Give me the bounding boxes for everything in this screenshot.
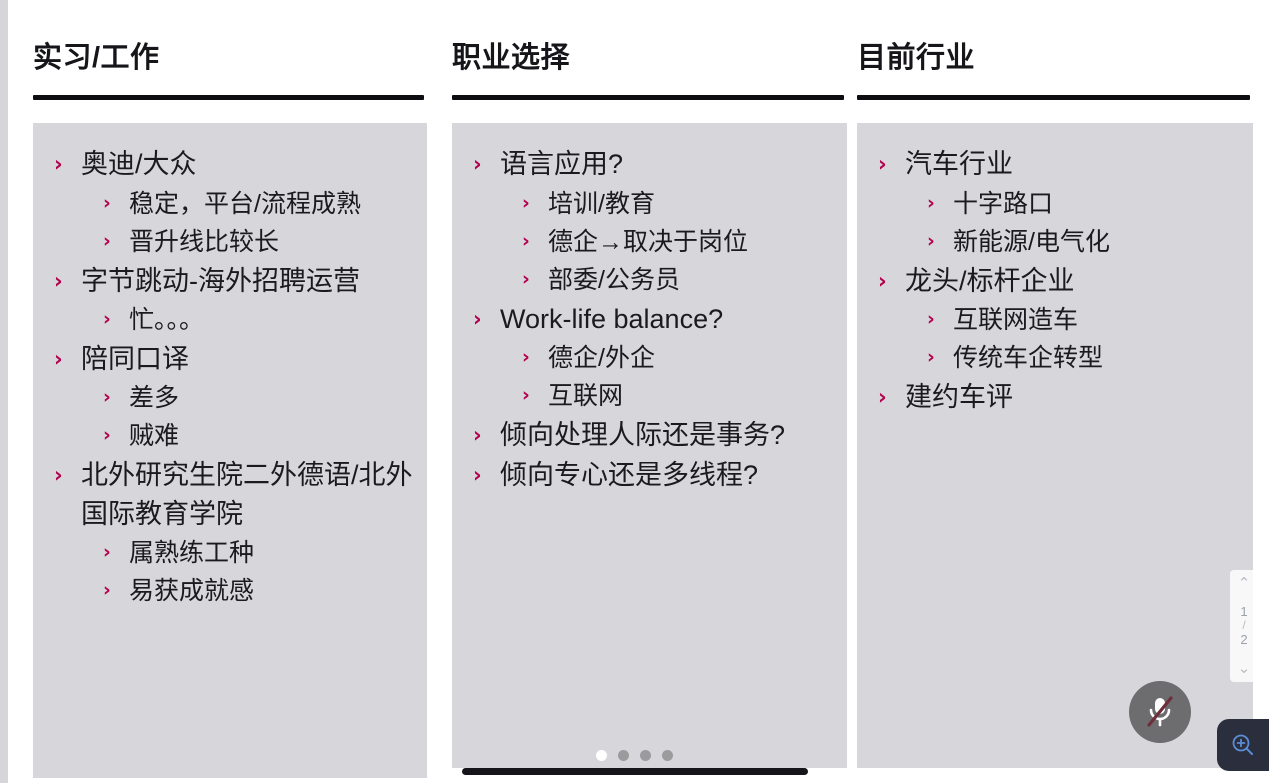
list-item-label: 培训/教育	[548, 186, 839, 222]
chevron-right-icon: ›	[103, 306, 111, 333]
content-panel-1: ›奥迪/大众 ›稳定，平台/流程成熟 ›晋升线比较长 ›字节跳动-海外招聘运营 …	[33, 123, 427, 778]
chevron-right-icon: ›	[878, 267, 887, 297]
bullet-list-2: ›语言应用? ›培训/教育 ›德企→取决于岗位 ›部委/公务员 ›Work-li…	[452, 145, 847, 494]
adjacent-slide-sliver	[0, 0, 8, 783]
list-item-label: 稳定，平台/流程成熟	[129, 186, 419, 222]
list-item[interactable]: ›奥迪/大众	[33, 145, 427, 183]
chevron-right-icon: ›	[473, 150, 482, 180]
current-page-number: 1	[1240, 605, 1247, 620]
list-item-label: 晋升线比较长	[129, 224, 419, 260]
chevron-right-icon: ›	[927, 344, 935, 371]
list-item-label: 建约车评	[905, 378, 1245, 416]
chevron-right-icon: ›	[927, 190, 935, 217]
list-item-label: 倾向处理人际还是事务?	[500, 416, 839, 454]
chevron-right-icon: ›	[522, 190, 530, 217]
chevron-right-icon: ›	[103, 539, 111, 566]
list-item-label: 十字路口	[953, 186, 1245, 222]
slide-canvas: 实习/工作 ›奥迪/大众 ›稳定，平台/流程成熟 ›晋升线比较长 ›字节跳动-海…	[8, 0, 1269, 783]
list-item-label: 字节跳动-海外招聘运营	[81, 262, 419, 300]
list-item[interactable]: ›倾向处理人际还是事务?	[452, 416, 847, 454]
chevron-right-icon: ›	[878, 383, 887, 413]
chevron-right-icon: ›	[103, 384, 111, 411]
content-panel-3: ›汽车行业 ›十字路口 ›新能源/电气化 ›龙头/标杆企业 ›互联网造车 ›传统…	[857, 123, 1253, 768]
bullet-list-3: ›汽车行业 ›十字路口 ›新能源/电气化 ›龙头/标杆企业 ›互联网造车 ›传统…	[857, 145, 1253, 416]
content-panel-2: ›语言应用? ›培训/教育 ›德企→取决于岗位 ›部委/公务员 ›Work-li…	[452, 123, 847, 768]
chevron-right-icon: ›	[522, 382, 530, 409]
list-item[interactable]: ›忙。。。	[33, 302, 427, 338]
list-item[interactable]: ›晋升线比较长	[33, 224, 427, 260]
list-item-label: 差多	[129, 380, 419, 416]
list-item[interactable]: ›陪同口译	[33, 340, 427, 378]
total-page-number: 2	[1240, 633, 1247, 648]
list-item[interactable]: ›新能源/电气化	[857, 224, 1253, 260]
slide-dot-1[interactable]	[596, 750, 607, 761]
list-item[interactable]: ›稳定，平台/流程成熟	[33, 186, 427, 222]
list-item-label: 北外研究生院二外德语/北外国际教育学院	[81, 456, 419, 533]
chevron-right-icon: ›	[473, 461, 482, 491]
slide-dot-3[interactable]	[640, 750, 651, 761]
list-item-label: 德企/外企	[548, 340, 839, 376]
list-item-label: Work-life balance?	[500, 300, 839, 338]
list-item[interactable]: ›语言应用?	[452, 145, 847, 183]
list-item-label: 龙头/标杆企业	[905, 262, 1245, 300]
heading-rule-2	[452, 95, 844, 100]
column-current-industry: 目前行业 ›汽车行业 ›十字路口 ›新能源/电气化 ›龙头/标杆企业 ›互联网造…	[835, 0, 1255, 783]
list-item[interactable]: ›字节跳动-海外招聘运营	[33, 262, 427, 300]
list-item[interactable]: ›汽车行业	[857, 145, 1253, 183]
list-item-label: 互联网	[548, 378, 839, 414]
list-item-label: 忙。。。	[129, 302, 419, 338]
chevron-right-icon: ›	[473, 305, 482, 335]
list-item-label: 贼难	[129, 418, 419, 454]
chevron-right-icon: ›	[103, 422, 111, 449]
chevron-right-icon: ›	[54, 150, 63, 180]
zoom-in-icon	[1230, 732, 1256, 758]
list-item-label: 传统车企转型	[953, 340, 1245, 376]
column-heading-3: 目前行业	[857, 0, 1239, 73]
page-navigator[interactable]: ⌃ 1 / 2 ⌄	[1230, 570, 1258, 682]
list-item[interactable]: ›易获成就感	[33, 573, 427, 609]
list-item-label: 奥迪/大众	[81, 145, 419, 183]
home-indicator-bar[interactable]	[462, 768, 808, 775]
list-item-label: 属熟练工种	[129, 535, 419, 571]
list-item[interactable]: ›德企→取决于岗位	[452, 224, 847, 260]
list-item-label: 倾向专心还是多线程?	[500, 456, 839, 494]
chevron-down-icon[interactable]: ⌄	[1238, 661, 1251, 676]
list-item-label: 汽车行业	[905, 145, 1245, 183]
column-heading-2: 职业选择	[452, 0, 823, 73]
chevron-right-icon: ›	[103, 190, 111, 217]
list-item-label: 互联网造车	[953, 302, 1245, 338]
list-item[interactable]: ›Work-life balance?	[452, 300, 847, 338]
slide-dot-2[interactable]	[618, 750, 629, 761]
microphone-muted-icon	[1144, 695, 1176, 729]
list-item[interactable]: ›十字路口	[857, 186, 1253, 222]
chevron-right-icon: ›	[878, 150, 887, 180]
list-item[interactable]: ›部委/公务员	[452, 262, 847, 298]
list-item[interactable]: ›倾向专心还是多线程?	[452, 456, 847, 494]
chevron-right-icon: ›	[54, 461, 63, 491]
bullet-list-1: ›奥迪/大众 ›稳定，平台/流程成熟 ›晋升线比较长 ›字节跳动-海外招聘运营 …	[33, 145, 427, 609]
chevron-right-icon: ›	[927, 306, 935, 333]
list-item[interactable]: ›建约车评	[857, 378, 1253, 416]
list-item-label: 部委/公务员	[548, 262, 839, 298]
list-item[interactable]: ›属熟练工种	[33, 535, 427, 571]
chevron-right-icon: ›	[103, 577, 111, 604]
list-item[interactable]: ›差多	[33, 380, 427, 416]
list-item[interactable]: ›互联网	[452, 378, 847, 414]
list-item-label: 语言应用?	[500, 145, 839, 183]
list-item-label: 陪同口译	[81, 340, 419, 378]
chevron-right-icon: ›	[54, 267, 63, 297]
slide-dot-4[interactable]	[662, 750, 673, 761]
list-item-label: 易获成就感	[129, 573, 419, 609]
list-item[interactable]: ›互联网造车	[857, 302, 1253, 338]
list-item[interactable]: ›培训/教育	[452, 186, 847, 222]
column-internship-work: 实习/工作 ›奥迪/大众 ›稳定，平台/流程成熟 ›晋升线比较长 ›字节跳动-海…	[8, 0, 429, 783]
list-item[interactable]: ›龙头/标杆企业	[857, 262, 1253, 300]
chevron-up-icon[interactable]: ⌃	[1238, 576, 1251, 591]
slide-columns: 实习/工作 ›奥迪/大众 ›稳定，平台/流程成熟 ›晋升线比较长 ›字节跳动-海…	[8, 0, 1269, 783]
microphone-mute-button[interactable]	[1129, 681, 1191, 743]
chevron-right-icon: ›	[522, 228, 530, 255]
page-counter: 1 / 2	[1240, 605, 1247, 648]
heading-rule-1	[33, 95, 424, 100]
chevron-right-icon: ›	[522, 344, 530, 371]
list-item[interactable]: ›贼难	[33, 418, 427, 454]
list-item[interactable]: ›德企/外企	[452, 340, 847, 376]
column-career-choice: 职业选择 ›语言应用? ›培训/教育 ›德企→取决于岗位 ›部委/公务员 ›Wo…	[429, 0, 835, 783]
heading-rule-3	[857, 95, 1250, 100]
list-item-label: 新能源/电气化	[953, 224, 1245, 260]
chevron-right-icon: ›	[103, 228, 111, 255]
column-heading-1: 实习/工作	[33, 0, 417, 73]
list-item[interactable]: ›北外研究生院二外德语/北外国际教育学院	[33, 456, 427, 533]
page-separator: /	[1242, 619, 1245, 632]
chevron-right-icon: ›	[473, 421, 482, 451]
chevron-right-icon: ›	[54, 345, 63, 375]
zoom-in-button[interactable]	[1217, 719, 1269, 771]
chevron-right-icon: ›	[927, 228, 935, 255]
list-item-label: 德企→取决于岗位	[548, 224, 839, 260]
list-item[interactable]: ›传统车企转型	[857, 340, 1253, 376]
slide-pagination-dots[interactable]	[0, 750, 1269, 761]
chevron-right-icon: ›	[522, 266, 530, 293]
